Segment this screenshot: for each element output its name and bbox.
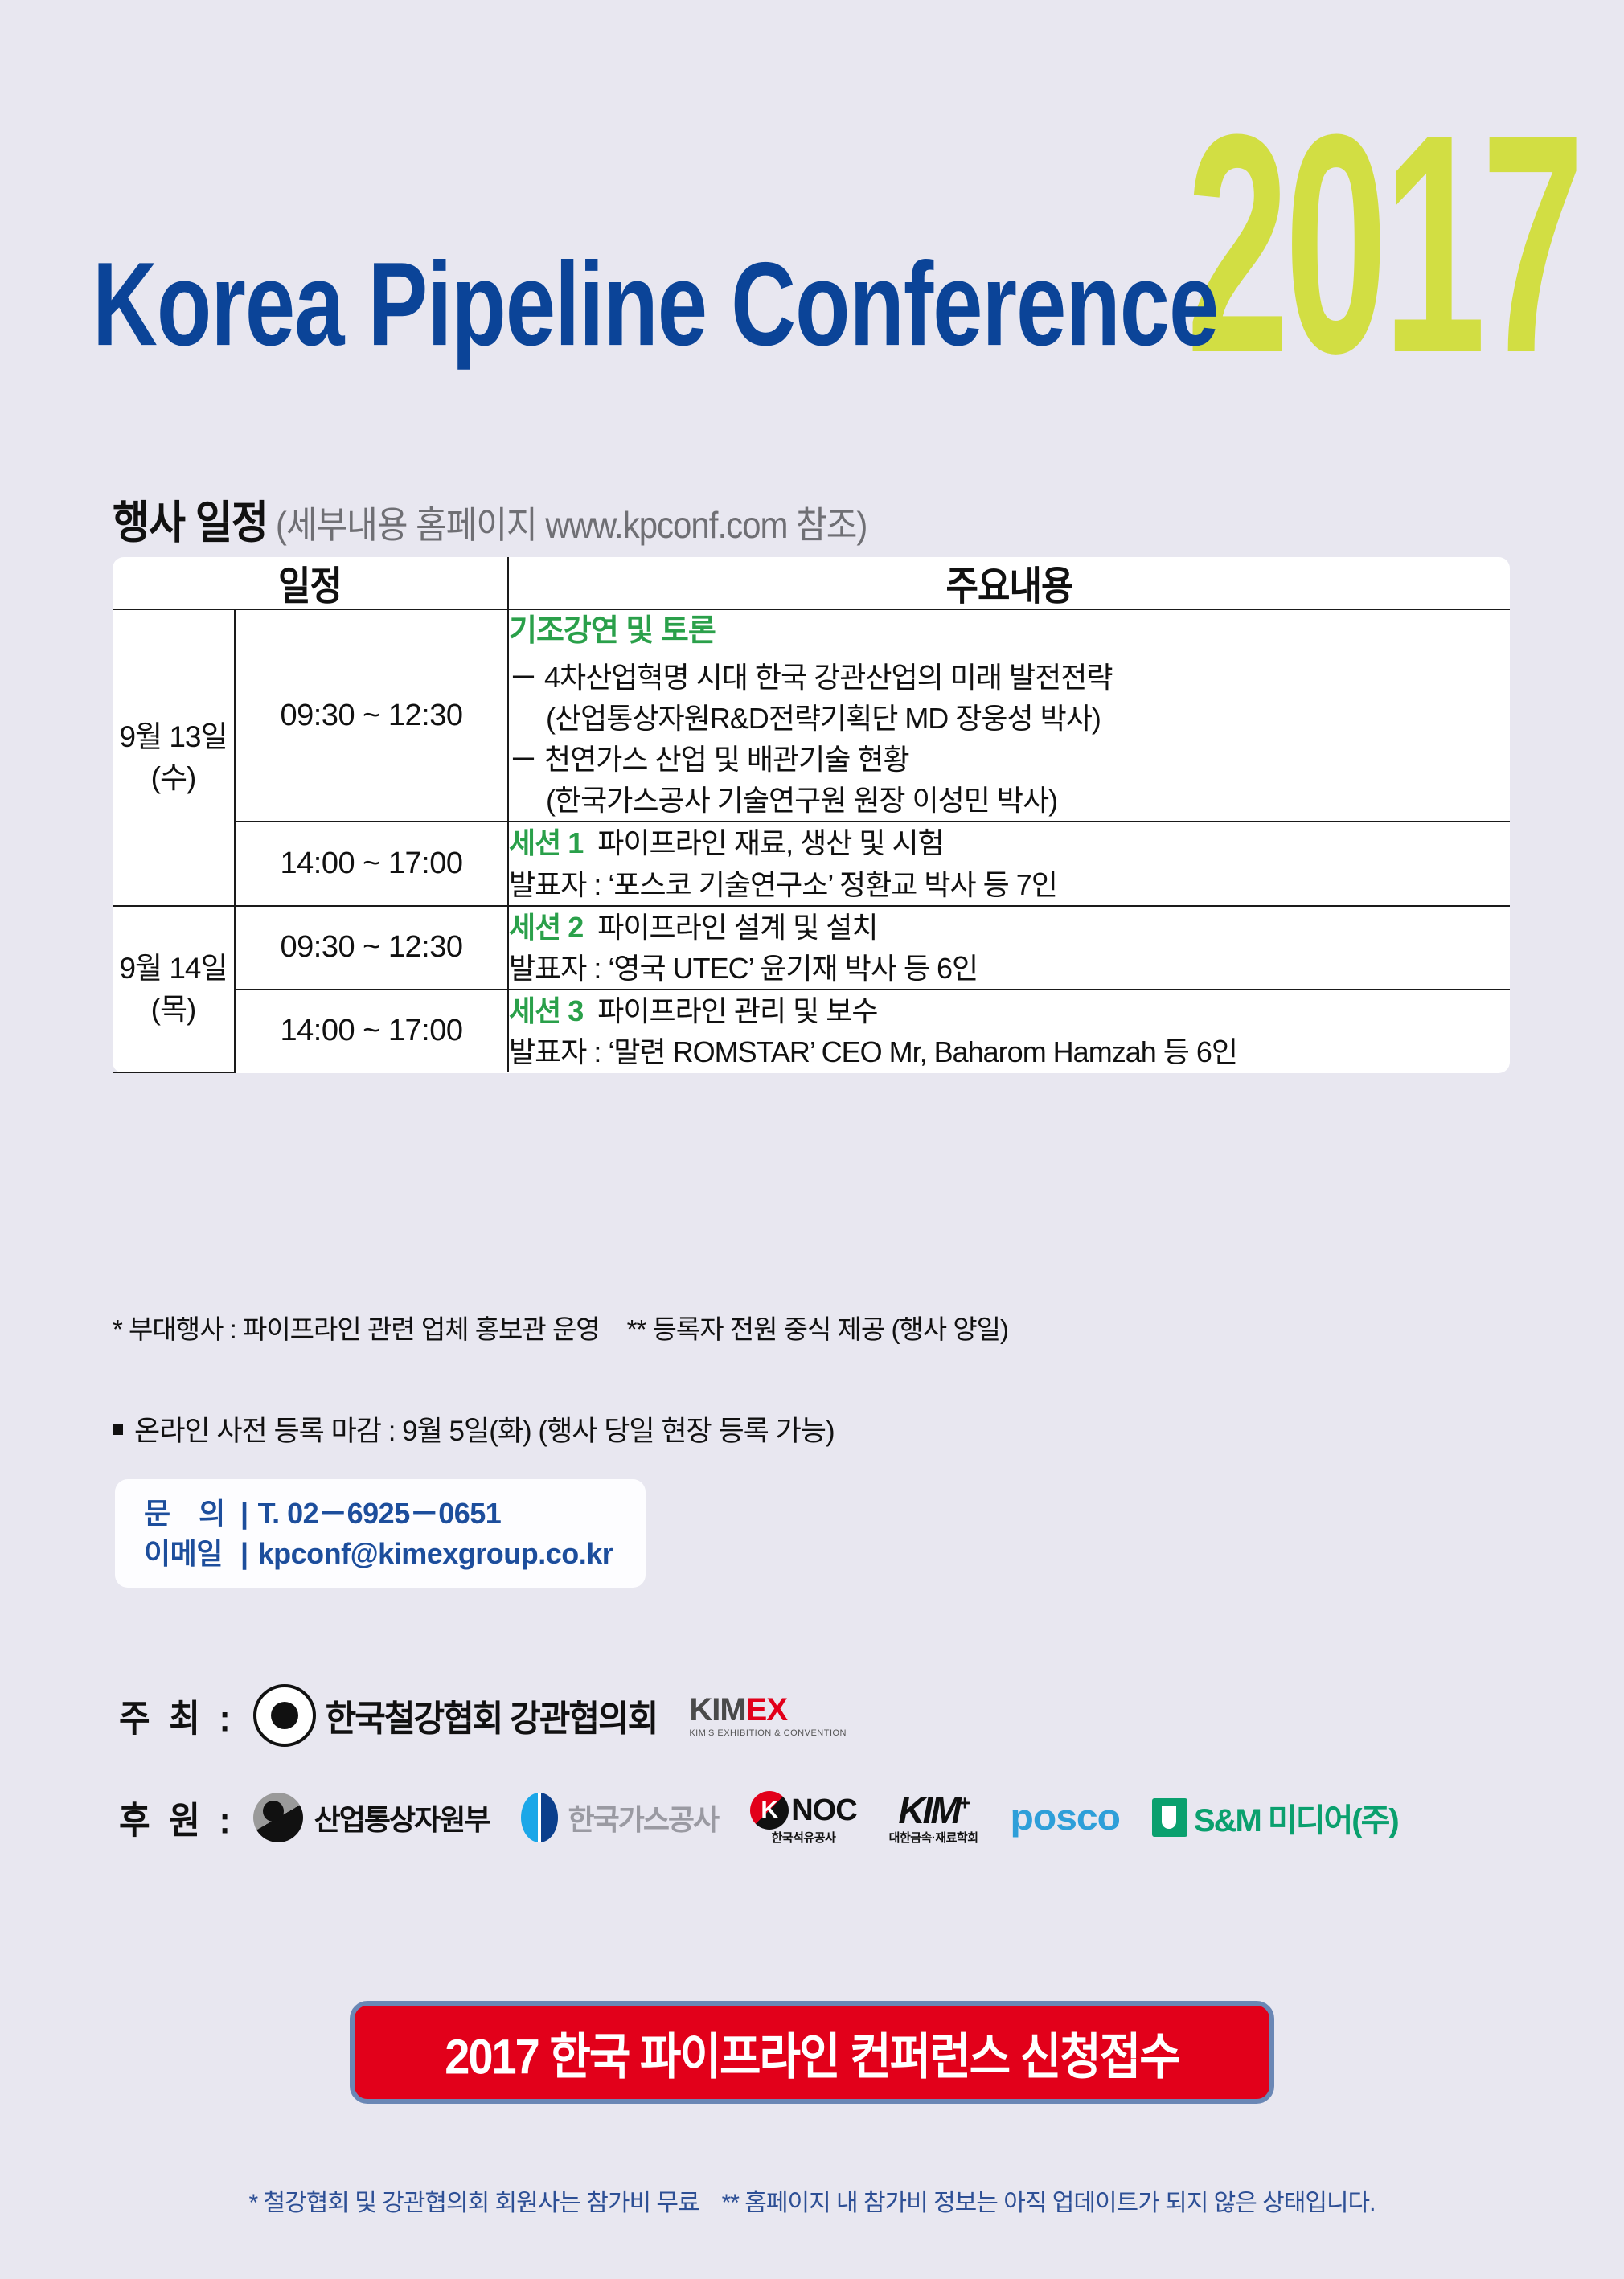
session-topic: 파이프라인 설계 및 설치 [597, 911, 877, 944]
sponsor-label: 후 원 : [119, 1790, 236, 1844]
col-header-schedule: 일정 [113, 554, 508, 613]
keynote-line-1: － 4차산업혁명 시대 한국 강관산업의 미래 발전전략 [509, 657, 1510, 698]
kimex-accent: EX [746, 1692, 787, 1728]
sponsor-row: 후 원 : 산업통상자원부 한국가스공사 K NOC 한국석유공사 KIM+ 대… [119, 1791, 1430, 1844]
title-block: 2017 Korea Pipeline Conference [0, 0, 1624, 418]
knoc-lockup: K NOC 한국석유공사 [750, 1791, 856, 1844]
table-row: 14:00 ~ 17:00 세션 3 파이프라인 관리 및 보수 발표자 : ‘… [113, 990, 1510, 1072]
motie-name: 산업통상자원부 [314, 1797, 490, 1838]
note-side-events-b: ** 등록자 전원 중식 제공 (행사 양일) [627, 1314, 1008, 1344]
kim-lockup: KIM+ 대한금속·재료학회 [889, 1792, 978, 1844]
schedule-table-card: 일정 주요내용 9월 13일 (수) 09:30 ~ 12:30 기조강연 및 … [113, 557, 1510, 1073]
time-cell: 14:00 ~ 17:00 [235, 990, 508, 1072]
keynote-title: 기조강연 및 토론 [509, 610, 1510, 654]
kosa-name: 한국철강협회 강관협의회 [326, 1690, 658, 1742]
square-bullet-icon [113, 1424, 123, 1435]
kimex-wordmark: KIMEX [689, 1694, 847, 1726]
logo-kogas: 한국가스공사 [521, 1793, 718, 1842]
organizer-row: 주 최 : 한국철강협회 강관협의회 KIMEX KIM'S EXHIBITIO… [119, 1684, 879, 1747]
session-heading: 세션 1 파이프라인 재료, 생산 및 시험 [509, 822, 1510, 863]
day-text: (목) [113, 989, 234, 1030]
sm-media-icon [1152, 1798, 1187, 1837]
kimex-lockup: KIMEX KIM'S EXHIBITION & CONVENTION [689, 1694, 847, 1738]
content-cell-session3: 세션 3 파이프라인 관리 및 보수 발표자 : ‘말련 ROMSTAR’ CE… [508, 990, 1510, 1072]
taegeuk-icon [253, 1793, 303, 1842]
date-text: 9월 14일 [113, 948, 234, 989]
knoc-icon: K [750, 1791, 789, 1830]
logo-posco: posco [1011, 1796, 1120, 1840]
footer-note-a: * 철강협회 및 강관협의회 회원사는 참가비 무료 [249, 2190, 699, 2216]
kim-subtitle: 대한금속·재료학회 [889, 1832, 978, 1844]
keynote-line-2: (산업통상자원R&D전략기획단 MD 장웅성 박사) [509, 698, 1510, 739]
note-registration-text: 온라인 사전 등록 마감 : 9월 5일(화) (행사 당일 현장 등록 가능) [134, 1416, 835, 1447]
table-row: 9월 13일 (수) 09:30 ~ 12:30 기조강연 및 토론 － 4차산… [113, 609, 1510, 822]
table-row: 14:00 ~ 17:00 세션 1 파이프라인 재료, 생산 및 시험 발표자… [113, 822, 1510, 905]
time-cell: 14:00 ~ 17:00 [235, 822, 508, 905]
contact-phone-value[interactable]: T. 02－6925－0651 [258, 1497, 502, 1530]
schedule-heading-sub: (세부내용 홈페이지 www.kpconf.com 참조) [276, 495, 867, 549]
registration-button[interactable]: 2017 한국 파이프라인 컨퍼런스 신청접수 [350, 2001, 1274, 2104]
contact-phone-label: 문 의 [144, 1494, 239, 1534]
contact-email-value[interactable]: kpconf@kimexgroup.co.kr [258, 1537, 613, 1570]
contact-email-row: 이메일|kpconf@kimexgroup.co.kr [144, 1534, 646, 1574]
col-header-content: 주요내용 [508, 554, 1510, 613]
logo-sm-media: S&M 미디어(주) [1152, 1794, 1398, 1841]
contact-separator: | [240, 1534, 248, 1574]
note-registration-deadline: 온라인 사전 등록 마감 : 9월 5일(화) (행사 당일 현장 등록 가능) [113, 1408, 835, 1449]
logo-kimex: KIMEX KIM'S EXHIBITION & CONVENTION [689, 1694, 847, 1738]
table-row: 9월 14일 (목) 09:30 ~ 12:30 세션 2 파이프라인 설계 및… [113, 906, 1510, 990]
session-topic: 파이프라인 관리 및 보수 [597, 994, 877, 1027]
page-title: Korea Pipeline Conference [92, 245, 1218, 364]
contact-phone-row: 문 의|T. 02－6925－0651 [144, 1494, 646, 1534]
poster-root: 2017 Korea Pipeline Conference 행사 일정(세부내… [0, 0, 1624, 2279]
schedule-heading: 행사 일정(세부내용 홈페이지 www.kpconf.com 참조) [113, 490, 867, 548]
logo-motie: 산업통상자원부 [253, 1793, 490, 1842]
kim-wordmark: KIM+ [898, 1792, 969, 1829]
day-text: (수) [113, 757, 234, 798]
note-side-events-a: * 부대행사 : 파이프라인 관련 업체 홍보관 운영 [113, 1314, 600, 1344]
session-label: 세션 1 [509, 826, 583, 859]
knoc-main: K NOC [750, 1791, 856, 1830]
time-cell: 09:30 ~ 12:30 [235, 609, 508, 822]
date-text: 9월 13일 [113, 716, 234, 757]
posco-wordmark: posco [1011, 1797, 1120, 1838]
schedule-heading-strong: 행사 일정 [113, 487, 268, 552]
registration-button-label: 2017 한국 파이프라인 컨퍼런스 신청접수 [445, 2016, 1179, 2088]
kogas-name: 한국가스공사 [568, 1797, 718, 1838]
session-presenter: 발표자 : ‘영국 UTEC’ 윤기재 박사 등 6인 [509, 948, 1510, 989]
content-cell-session1: 세션 1 파이프라인 재료, 생산 및 시험 발표자 : ‘포스코 기술연구소’… [508, 822, 1510, 905]
session-presenter: 발표자 : ‘포스코 기술연구소’ 정환교 박사 등 7인 [509, 864, 1510, 905]
footer-notes: * 철강협회 및 강관협의회 회원사는 참가비 무료** 홈페이지 내 참가비 … [0, 2183, 1624, 2218]
logo-kim: KIM+ 대한금속·재료학회 [889, 1792, 978, 1844]
kogas-icon [521, 1793, 558, 1842]
session-topic: 파이프라인 재료, 생산 및 시험 [597, 826, 943, 859]
contact-box: 문 의|T. 02－6925－0651 이메일|kpconf@kimexgrou… [115, 1479, 646, 1588]
keynote-line-3: － 천연가스 산업 및 배관기술 현황 [509, 739, 1510, 780]
note-side-events: * 부대행사 : 파이프라인 관련 업체 홍보관 운영** 등록자 전원 중식 … [113, 1308, 1008, 1346]
kosa-seal-icon [253, 1684, 316, 1747]
logo-kosa: 한국철강협회 강관협의회 [253, 1684, 658, 1747]
knoc-name: NOC [791, 1795, 856, 1826]
logo-knoc: K NOC 한국석유공사 [750, 1791, 856, 1844]
session-presenter: 발표자 : ‘말련 ROMSTAR’ CEO Mr, Baharom Hamza… [509, 1031, 1510, 1072]
session-heading: 세션 2 파이프라인 설계 및 설치 [509, 907, 1510, 948]
contact-email-label: 이메일 [144, 1534, 239, 1574]
year-number: 2017 [1186, 88, 1580, 400]
kim-name: KIM [898, 1789, 958, 1831]
session-label: 세션 3 [509, 994, 583, 1027]
organizer-label: 주 최 : [119, 1688, 236, 1742]
date-cell-day2: 9월 14일 (목) [113, 906, 235, 1072]
keynote-line-4: (한국가스공사 기술연구원 원장 이성민 박사) [509, 780, 1510, 821]
kimex-prefix: KIM [689, 1692, 745, 1728]
schedule-table: 일정 주요내용 9월 13일 (수) 09:30 ~ 12:30 기조강연 및 … [113, 557, 1510, 1073]
content-cell-session2: 세션 2 파이프라인 설계 및 설치 발표자 : ‘영국 UTEC’ 윤기재 박… [508, 906, 1510, 990]
knoc-subtitle: 한국석유공사 [772, 1832, 836, 1844]
date-cell-day1: 9월 13일 (수) [113, 609, 235, 906]
contact-separator: | [240, 1494, 248, 1534]
session-heading: 세션 3 파이프라인 관리 및 보수 [509, 990, 1510, 1031]
session-label: 세션 2 [509, 911, 583, 944]
table-header-row: 일정 주요내용 [113, 557, 1510, 609]
sm-media-name: S&M 미디어(주) [1194, 1794, 1398, 1841]
time-cell: 09:30 ~ 12:30 [235, 906, 508, 990]
kimex-tagline: KIM'S EXHIBITION & CONVENTION [689, 1729, 847, 1738]
content-cell-keynote: 기조강연 및 토론 － 4차산업혁명 시대 한국 강관산업의 미래 발전전략 (… [508, 609, 1510, 822]
footer-note-b: ** 홈페이지 내 참가비 정보는 아직 업데이트가 되지 않은 상태입니다. [722, 2190, 1376, 2216]
kim-plus: + [959, 1790, 969, 1814]
